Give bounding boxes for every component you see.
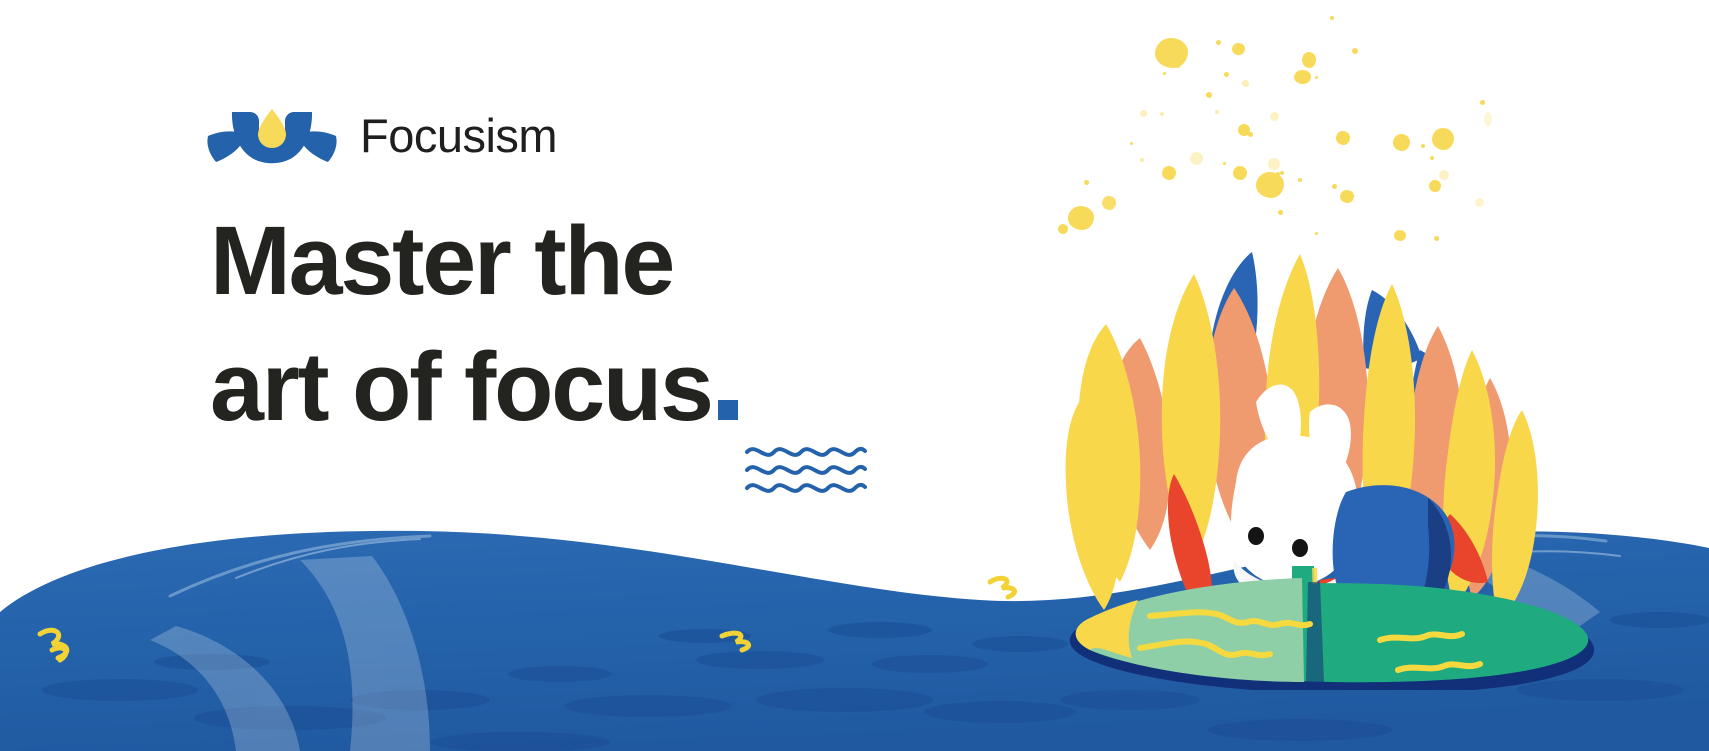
paint-splatter-icon <box>1176 64 1180 68</box>
paint-splatter-icon <box>1352 48 1358 54</box>
page-title: Master the art of focus <box>210 198 970 450</box>
paint-splatter-icon <box>1340 190 1354 203</box>
paint-splatter-decoration <box>1040 0 1600 280</box>
lily-pad <box>1070 578 1594 690</box>
lotus-stem <box>1292 566 1316 634</box>
paint-splatter-icon <box>1232 43 1245 55</box>
paint-splatter-icon <box>1268 158 1280 170</box>
paint-splatter-icon <box>1215 110 1219 114</box>
bunny <box>1231 385 1360 598</box>
paint-splatter-icon <box>1162 166 1176 180</box>
paint-splatter-icon <box>1421 144 1425 148</box>
wavy-lines-decoration <box>744 443 868 499</box>
paint-splatter-icon <box>1216 40 1221 45</box>
lotus-svg <box>1020 230 1640 690</box>
paint-splatter-icon <box>1084 180 1089 185</box>
lotus-petals-salmon <box>1110 268 1511 598</box>
bunny-ear-left <box>1256 385 1301 468</box>
paint-splatter-icon <box>1394 230 1406 241</box>
paint-splatter-icon <box>1276 172 1280 176</box>
lotus-petals-back-blue <box>1210 252 1470 429</box>
paint-splatter-icon <box>1238 124 1250 136</box>
bunny-eye-right <box>1292 539 1308 557</box>
paint-splatter-icon <box>1256 172 1284 198</box>
paint-splatter-icon <box>1270 112 1279 121</box>
brand-name: Focusism <box>360 112 557 159</box>
bunny-head <box>1231 435 1358 586</box>
paint-splatter-icon <box>1278 210 1283 215</box>
paint-splatter-icon <box>1294 70 1311 84</box>
paint-splatter-icon <box>1302 52 1316 68</box>
water-body <box>0 531 1709 751</box>
lotus-bowl-drop-icon <box>206 104 338 166</box>
paint-splatter-icon <box>1484 112 1492 126</box>
paint-splatter-icon <box>1429 180 1441 192</box>
paint-splatter-icon <box>1160 112 1164 116</box>
paint-splatter-icon <box>1434 236 1439 241</box>
paint-splatter-icon <box>1248 132 1253 137</box>
water-texture <box>42 612 1709 751</box>
headline-line-1: Master the <box>210 198 970 324</box>
water-highlights <box>150 546 1600 751</box>
headline-line-2: art of focus <box>210 332 712 441</box>
wavy-lines-icon <box>744 443 868 499</box>
hero-banner: Focusism Master the art of focus <box>0 0 1709 751</box>
paint-splatter-icon <box>1163 72 1166 75</box>
paint-splatter-icon <box>1475 198 1484 207</box>
headline-line-2-wrap: art of focus <box>210 324 970 450</box>
paint-splatter-icon <box>1330 16 1334 20</box>
paint-splatter-icon <box>1233 166 1247 180</box>
paint-splatter-icon <box>1315 76 1318 79</box>
bunny-eye-left <box>1248 527 1264 545</box>
paint-splatter-icon <box>1332 184 1337 189</box>
lily-pad-shadow <box>1070 589 1594 690</box>
paint-splatter-icon <box>1432 128 1454 150</box>
lily-pad-notch <box>1306 582 1324 682</box>
paint-splatter-icon <box>1190 152 1203 165</box>
paint-splatter-icon <box>1068 206 1094 230</box>
water-crest-lines <box>170 536 1620 596</box>
bunny-ear-right <box>1309 404 1351 490</box>
paint-splatter-icon <box>1155 38 1188 68</box>
paint-splatter-icon <box>1140 110 1147 117</box>
paint-splatter-icon <box>1298 178 1302 182</box>
paint-splatter-icon <box>1058 224 1068 234</box>
paint-splatter-icon <box>1102 196 1116 210</box>
bunny-lotus-illustration <box>1020 230 1640 690</box>
lotus-petals-yellow <box>1066 254 1538 622</box>
paint-splatter-icon <box>1280 171 1284 175</box>
paint-splatter-icon <box>1393 134 1410 151</box>
headline-period-square <box>718 400 738 420</box>
paint-splatter-icon <box>1130 142 1133 145</box>
paint-splatter-icon <box>1224 72 1229 77</box>
lily-pad-light-wedge <box>1076 578 1304 682</box>
paint-splatter-icon <box>1206 92 1212 98</box>
lily-pad-veins <box>1140 612 1480 670</box>
lotus-stem-highlight <box>1312 568 1319 632</box>
paint-splatter-icon <box>1315 232 1318 235</box>
logo-drop <box>258 109 286 148</box>
lily-pad-yellow-tip <box>1076 600 1138 658</box>
paint-splatter-icon <box>1336 131 1350 145</box>
paint-splatter-icon <box>1242 80 1249 87</box>
bunny-body <box>1234 548 1360 598</box>
lily-pad-body <box>1076 583 1588 682</box>
water-yellow-squiggles <box>40 578 1015 660</box>
lotus-inner-blue-petal <box>1333 485 1455 620</box>
paint-splatter-icon <box>1140 158 1144 162</box>
paint-splatter-icon <box>1439 170 1449 180</box>
lotus-petals-red-accent <box>1168 474 1488 628</box>
paint-splatter-icon <box>1480 100 1485 105</box>
brand-logo[interactable]: Focusism <box>206 104 557 166</box>
paint-splatter-icon <box>1430 156 1434 160</box>
paint-splatter-icon <box>1223 162 1226 165</box>
